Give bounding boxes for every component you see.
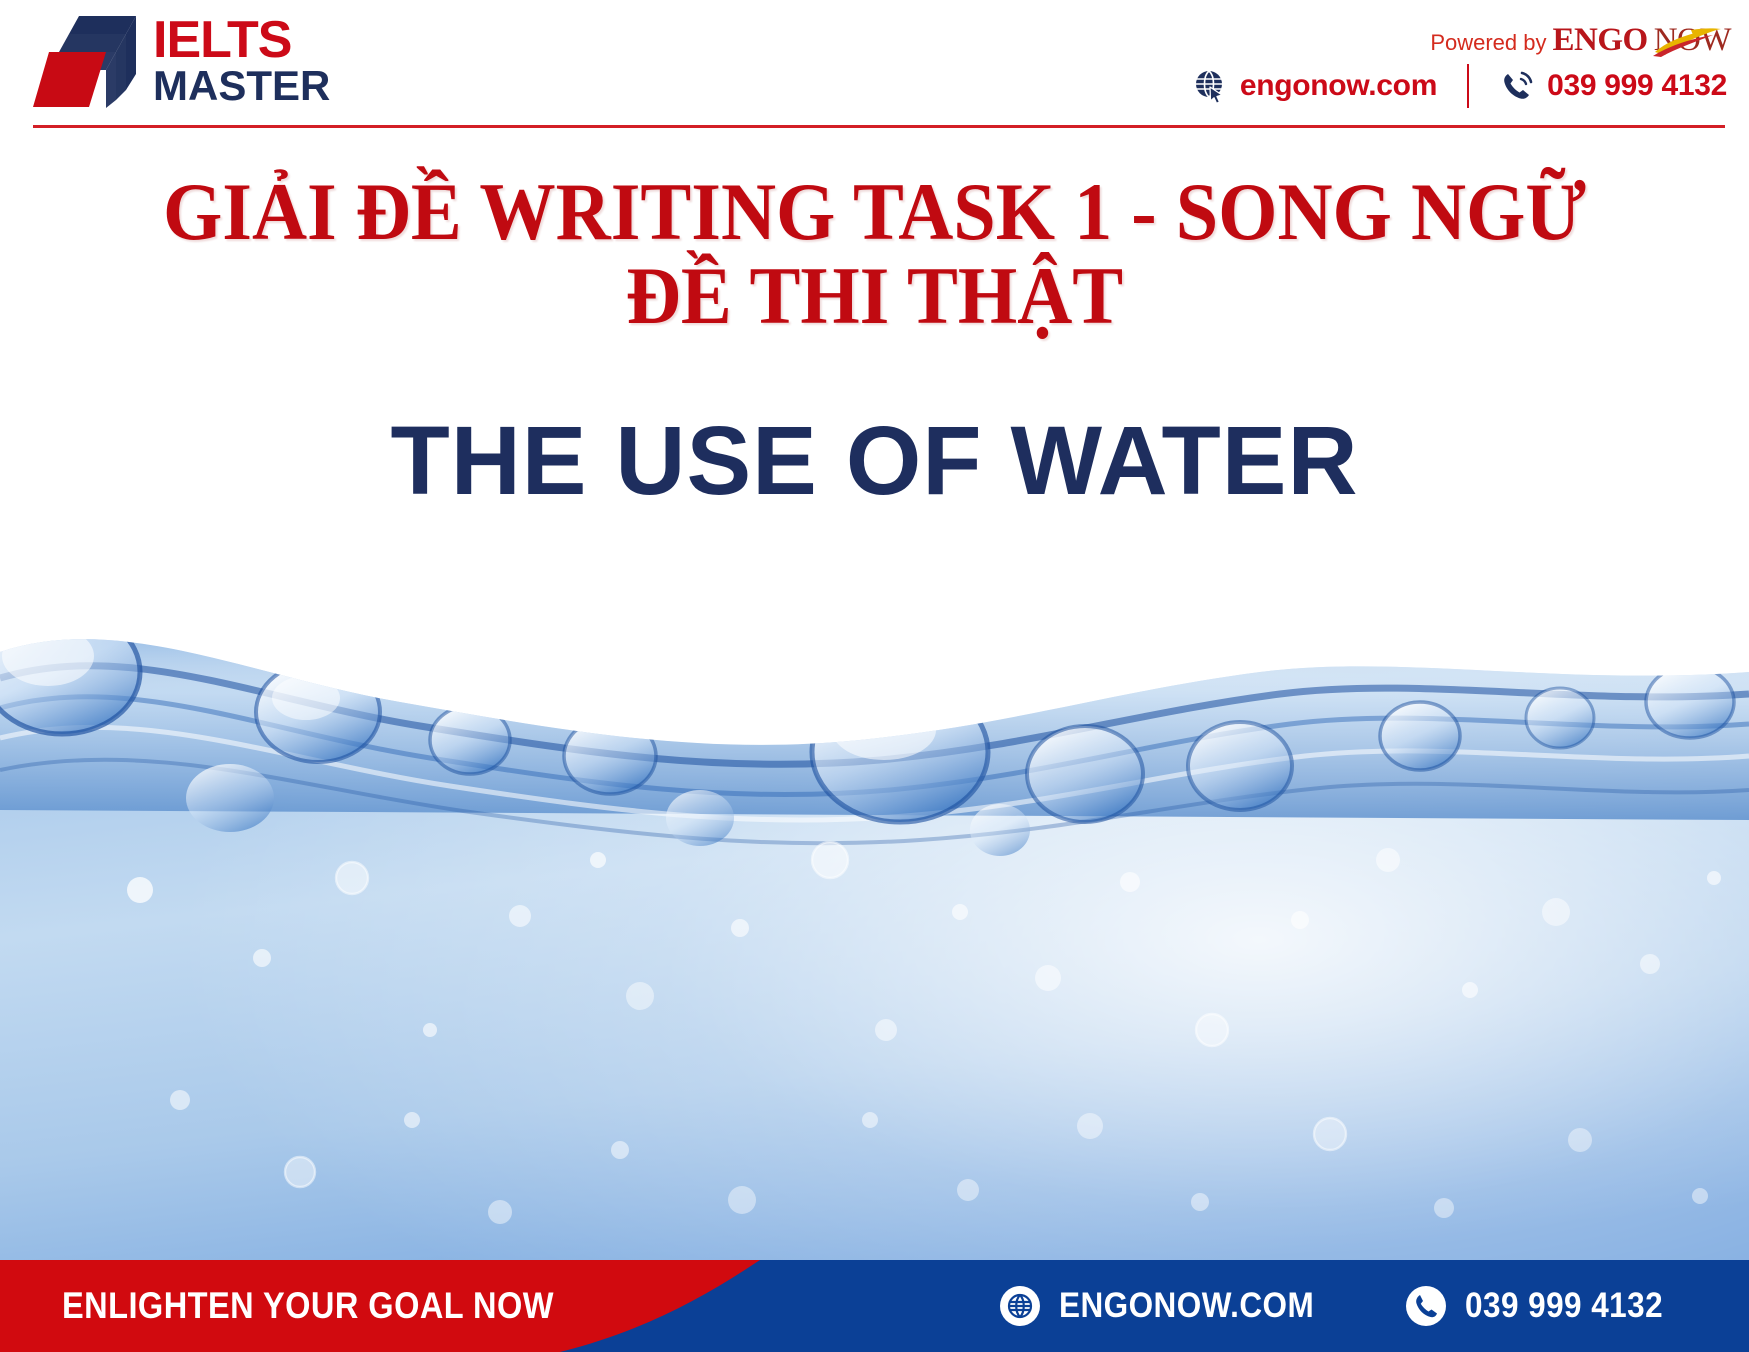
header-contact-divider bbox=[1467, 64, 1469, 108]
footer-contact-row: ENGONOW.COM 039 999 4132 bbox=[899, 1260, 1749, 1352]
headline-red-line-2: ĐỀ THI THẬT bbox=[61, 254, 1688, 338]
headline-red-line-1: GIẢI ĐỀ WRITING TASK 1 - SONG NGỮ bbox=[163, 166, 1586, 257]
engonow-logo-engo: ENGO bbox=[1553, 24, 1648, 57]
header-phone-text: 039 999 4132 bbox=[1547, 69, 1727, 103]
header-divider-rule bbox=[33, 125, 1725, 128]
water-surface-with-bubbles-photo bbox=[0, 560, 1749, 1352]
footer-phone-item[interactable]: 039 999 4132 bbox=[1405, 1285, 1685, 1327]
logo-text-master: MASTER bbox=[153, 67, 330, 106]
phone-call-icon bbox=[1499, 68, 1535, 104]
powered-by-engonow[interactable]: Powered by ENGO NOW bbox=[1430, 24, 1731, 57]
globe-circle-icon bbox=[999, 1285, 1041, 1327]
header-contact-row: engonow.com 039 999 4132 bbox=[1192, 64, 1727, 108]
logo-wordmark: IELTS MASTER bbox=[153, 17, 330, 105]
header-phone-item[interactable]: 039 999 4132 bbox=[1499, 68, 1727, 104]
powered-by-label: Powered by bbox=[1430, 32, 1546, 57]
gold-swoosh-icon bbox=[1651, 28, 1723, 58]
stacked-pages-icon bbox=[33, 12, 143, 110]
footer-website-item[interactable]: ENGONOW.COM bbox=[999, 1285, 1343, 1327]
logo-text-ielts: IELTS bbox=[153, 17, 330, 65]
ielts-master-logo[interactable]: IELTS MASTER bbox=[33, 12, 330, 110]
headline-blue-topic: THE USE OF WATER bbox=[0, 410, 1749, 512]
headline-red: GIẢI ĐỀ WRITING TASK 1 - SONG NGỮ ĐỀ THI… bbox=[61, 170, 1688, 337]
header-website-text: engonow.com bbox=[1240, 69, 1437, 103]
page-header: IELTS MASTER Powered by ENGO NOW bbox=[0, 0, 1749, 135]
footer-banner: ENLIGHTEN YOUR GOAL NOW ENGONOW.COM 039 … bbox=[0, 1260, 1749, 1352]
poster-canvas: IELTS MASTER Powered by ENGO NOW bbox=[0, 0, 1749, 1352]
footer-tagline: ENLIGHTEN YOUR GOAL NOW bbox=[62, 1260, 554, 1352]
footer-website-text: ENGONOW.COM bbox=[1059, 1286, 1314, 1326]
phone-circle-icon bbox=[1405, 1285, 1447, 1327]
header-website-item[interactable]: engonow.com bbox=[1192, 68, 1437, 104]
footer-phone-text: 039 999 4132 bbox=[1465, 1286, 1663, 1326]
globe-cursor-icon bbox=[1192, 68, 1228, 104]
